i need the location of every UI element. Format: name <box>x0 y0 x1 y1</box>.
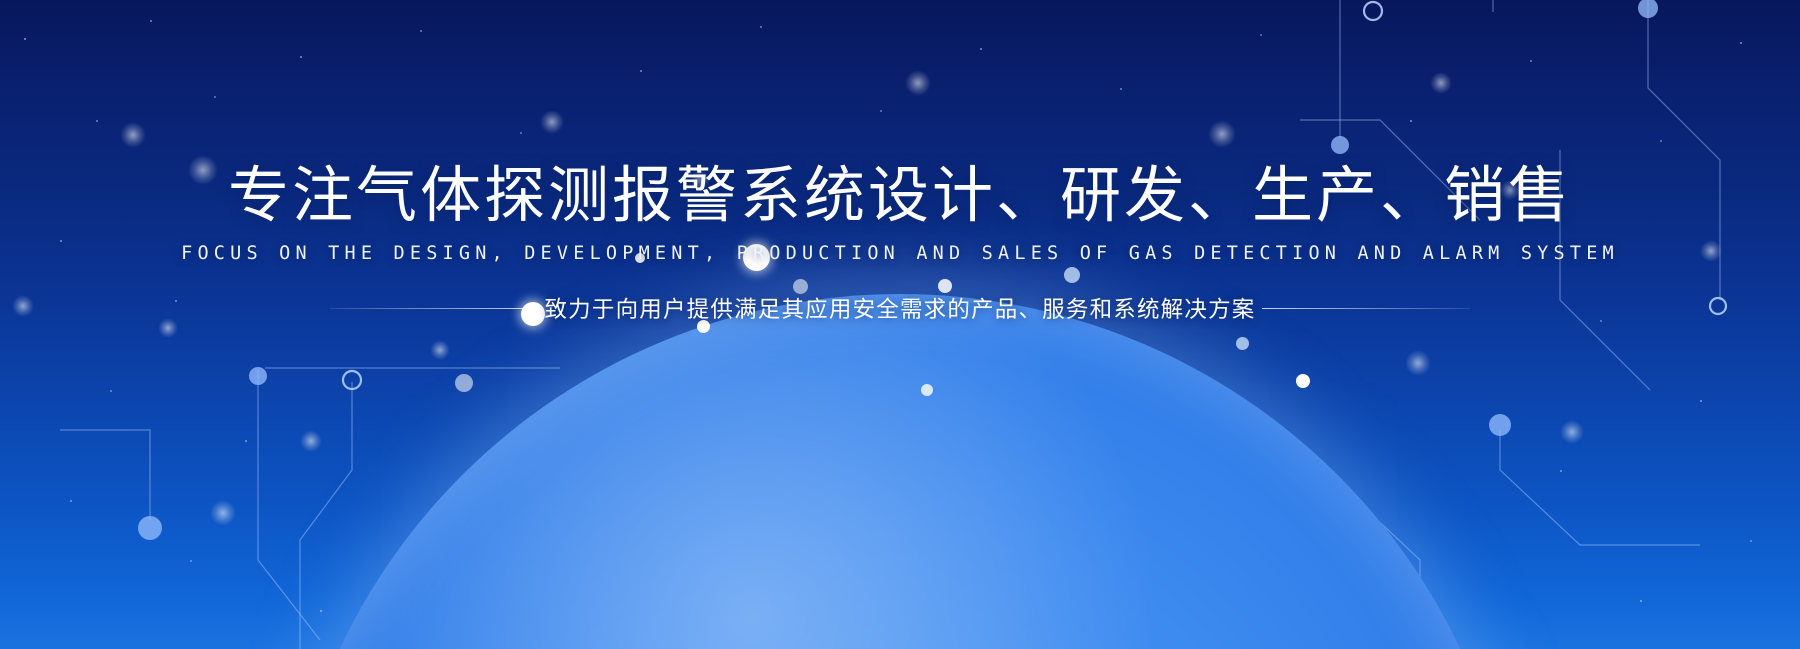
globe-continents <box>280 294 1520 649</box>
globe-node <box>921 384 933 396</box>
tagline-row: 致力于向用户提供满足其应用安全需求的产品、服务和系统解决方案 <box>0 292 1800 324</box>
globe-rim <box>280 294 1520 649</box>
globe-node <box>1236 337 1249 350</box>
page-title: 专注气体探测报警系统设计、研发、生产、销售 <box>0 163 1800 227</box>
globe-node <box>1296 374 1310 388</box>
hero-banner: 专注气体探测报警系统设计、研发、生产、销售 FOCUS ON THE DESIG… <box>0 0 1800 649</box>
divider-right <box>1262 308 1470 309</box>
globe-node <box>455 374 473 392</box>
tagline-text: 致力于向用户提供满足其应用安全需求的产品、服务和系统解决方案 <box>538 292 1261 324</box>
globe-mesh <box>280 294 1520 649</box>
subtitle-english: FOCUS ON THE DESIGN, DEVELOPMENT, PRODUC… <box>0 243 1800 264</box>
banner-content: 专注气体探测报警系统设计、研发、生产、销售 FOCUS ON THE DESIG… <box>0 0 1800 324</box>
divider-left <box>330 308 538 309</box>
